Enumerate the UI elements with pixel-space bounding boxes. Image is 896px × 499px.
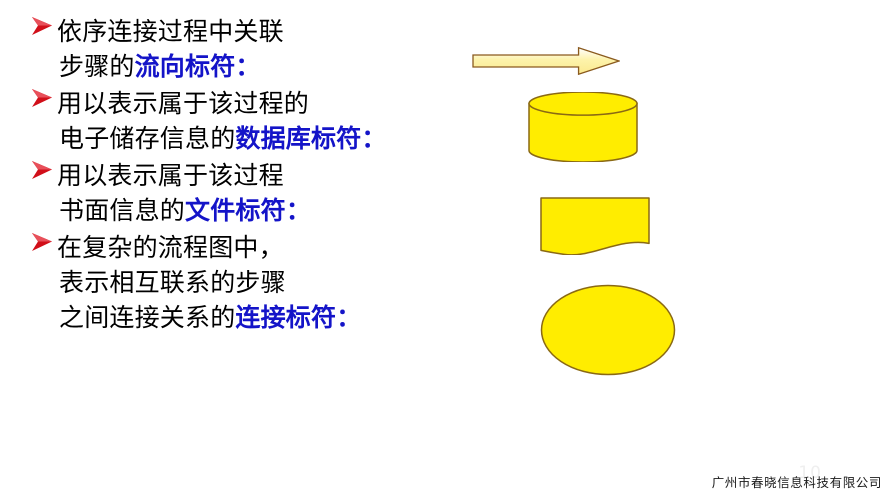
bullet-line: 表示相互联系的步骤	[57, 265, 500, 300]
bullet-block: 用以表示属于该过程的电子储存信息的数据库标符：	[30, 86, 500, 156]
bullet-lines: 用以表示属于该过程的电子储存信息的数据库标符：	[30, 86, 500, 156]
red-arrowhead-bullet-icon	[30, 15, 56, 49]
bullet-block: 用以表示属于该过程书面信息的文件标符：	[30, 158, 500, 228]
bullet-line: 依序连接过程中关联	[57, 14, 500, 49]
flow-direction-arrow-symbol	[472, 46, 620, 76]
bullet-block: 依序连接过程中关联步骤的流向标符：	[30, 14, 500, 84]
bullet-lines: 依序连接过程中关联步骤的流向标符：	[30, 14, 500, 84]
bullet-line: 在复杂的流程图中，	[57, 230, 500, 265]
red-arrowhead-bullet-icon	[30, 159, 56, 193]
highlighted-term: 数据库标符	[235, 124, 361, 153]
slide-canvas: 依序连接过程中关联步骤的流向标符：用以表示属于该过程的电子储存信息的数据库标符：…	[0, 0, 896, 499]
red-arrowhead-bullet-icon	[30, 87, 56, 121]
plain-text: 步骤的	[59, 52, 135, 81]
highlighted-term: ：	[336, 303, 361, 332]
plain-text: 之间连接关系的	[59, 303, 235, 332]
plain-text: 在复杂的流程图中，	[57, 233, 284, 262]
highlighted-term: ：	[286, 196, 311, 225]
bullet-line: 步骤的流向标符：	[57, 49, 500, 84]
highlighted-term: 连接标符	[235, 303, 336, 332]
bullet-lines: 在复杂的流程图中，表示相互联系的步骤之间连接关系的连接标符：	[30, 230, 500, 335]
bullet-list: 依序连接过程中关联步骤的流向标符：用以表示属于该过程的电子储存信息的数据库标符：…	[30, 14, 500, 337]
plain-text: 用以表示属于该过程	[57, 161, 284, 190]
bullet-line: 之间连接关系的连接标符：	[57, 300, 500, 335]
highlighted-term: ：	[361, 124, 386, 153]
bullet-line: 用以表示属于该过程	[57, 158, 500, 193]
document-symbol	[540, 197, 650, 255]
highlighted-term: 文件标符	[185, 196, 286, 225]
plain-text: 电子储存信息的	[59, 124, 235, 153]
plain-text: 表示相互联系的步骤	[59, 268, 286, 297]
plain-text: 书面信息的	[59, 196, 185, 225]
bullet-line: 书面信息的文件标符：	[57, 193, 500, 228]
bullet-lines: 用以表示属于该过程书面信息的文件标符：	[30, 158, 500, 228]
connector-ellipse-symbol	[540, 284, 676, 376]
plain-text: 依序连接过程中关联	[57, 17, 284, 46]
footer-company-label: 广州市春晓信息科技有限公司	[712, 472, 882, 491]
plain-text: 用以表示属于该过程的	[57, 89, 309, 118]
database-cylinder-symbol	[528, 92, 638, 162]
highlighted-term: ：	[235, 52, 260, 81]
red-arrowhead-bullet-icon	[30, 231, 56, 265]
bullet-line: 用以表示属于该过程的	[57, 86, 500, 121]
bullet-block: 在复杂的流程图中，表示相互联系的步骤之间连接关系的连接标符：	[30, 230, 500, 335]
highlighted-term: 流向标符	[135, 52, 236, 81]
bullet-line: 电子储存信息的数据库标符：	[57, 121, 500, 156]
